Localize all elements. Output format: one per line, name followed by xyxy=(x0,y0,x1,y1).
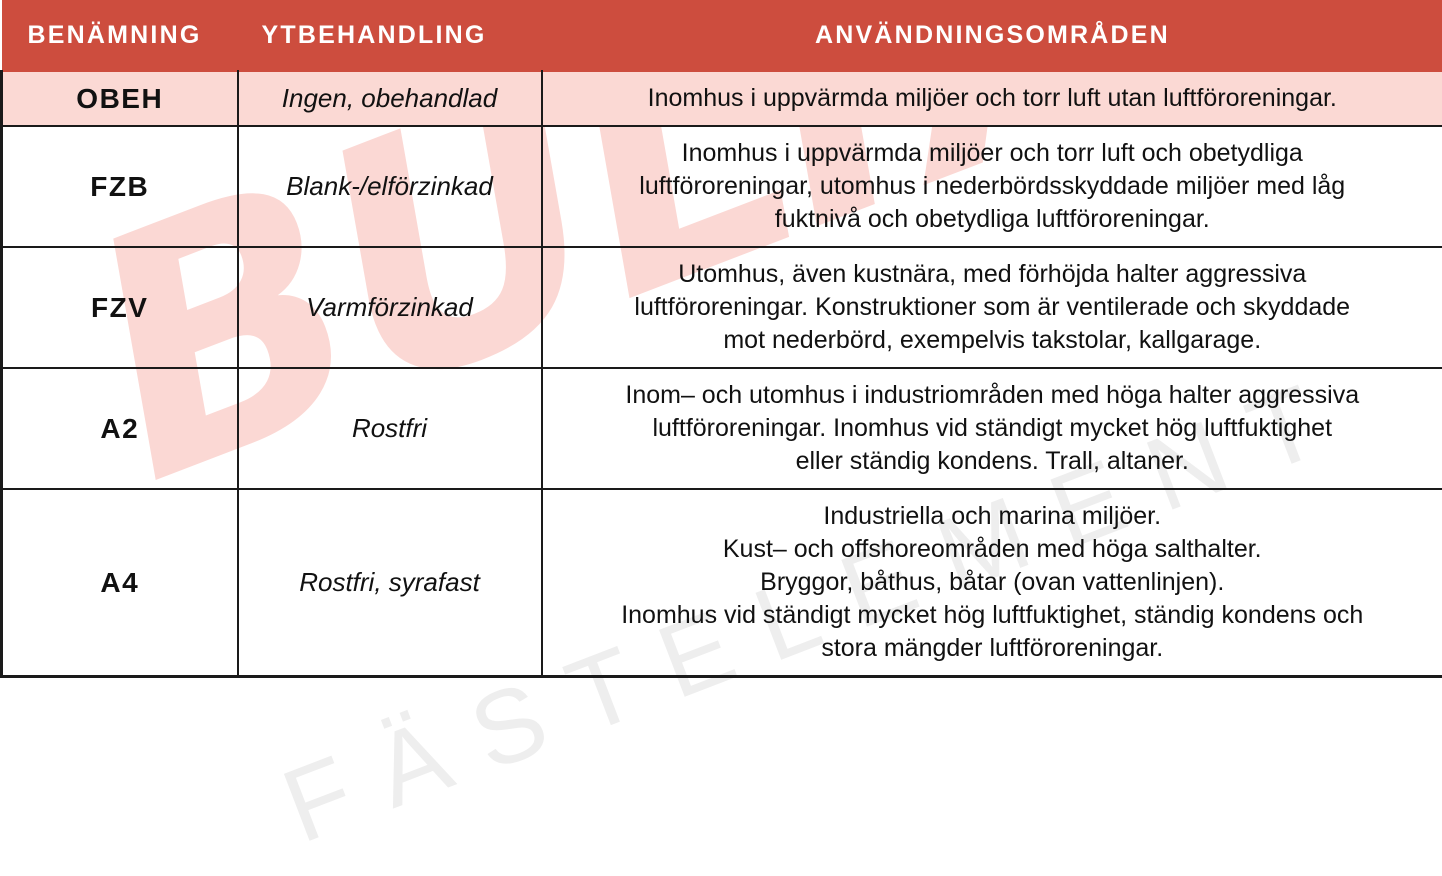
description-line: luftföroreningar. Konstruktioner som är … xyxy=(561,291,1425,324)
surface-treatment-table: BENÄMNING YTBEHANDLING ANVÄNDNINGSOMRÅDE… xyxy=(0,0,1442,678)
cell-benamning: FZB xyxy=(2,126,238,247)
column-header-anvandningsomraden: ANVÄNDNINGSOMRÅDEN xyxy=(542,0,1442,71)
cell-anvandningsomraden: Inomhus i uppvärmda miljöer och torr luf… xyxy=(542,126,1442,247)
description-line: Inomhus i uppvärmda miljöer och torr luf… xyxy=(561,82,1425,115)
cell-anvandningsomraden: Inom– och utomhus i industriområden med … xyxy=(542,368,1442,489)
description-line: eller ständig kondens. Trall, altaner. xyxy=(561,445,1425,478)
table-row: FZVVarmförzinkadUtomhus, även kustnära, … xyxy=(2,247,1442,368)
cell-benamning: A4 xyxy=(2,489,238,677)
description-line: Bryggor, båthus, båtar (ovan vattenlinje… xyxy=(561,566,1425,599)
cell-benamning: OBEH xyxy=(2,71,238,126)
table-header: BENÄMNING YTBEHANDLING ANVÄNDNINGSOMRÅDE… xyxy=(2,0,1442,71)
column-header-ytbehandling: YTBEHANDLING xyxy=(238,0,542,71)
cell-ytbehandling: Ingen, obehandlad xyxy=(238,71,542,126)
cell-anvandningsomraden: Industriella och marina miljöer.Kust– oc… xyxy=(542,489,1442,677)
description-line: Kust– och offshoreområden med höga salth… xyxy=(561,533,1425,566)
cell-ytbehandling: Blank-/elförzinkad xyxy=(238,126,542,247)
table-body: OBEHIngen, obehandladInomhus i uppvärmda… xyxy=(2,71,1442,677)
description-line: luftföroreningar, utomhus i nederbördssk… xyxy=(561,170,1425,203)
table-row: OBEHIngen, obehandladInomhus i uppvärmda… xyxy=(2,71,1442,126)
description-line: stora mängder luftföroreningar. xyxy=(561,632,1425,665)
column-header-benamning: BENÄMNING xyxy=(2,0,238,71)
cell-anvandningsomraden: Inomhus i uppvärmda miljöer och torr luf… xyxy=(542,71,1442,126)
description-line: Inom– och utomhus i industriområden med … xyxy=(561,379,1425,412)
description-line: Inomhus i uppvärmda miljöer och torr luf… xyxy=(561,137,1425,170)
surface-treatment-table-wrapper: BENÄMNING YTBEHANDLING ANVÄNDNINGSOMRÅDE… xyxy=(0,0,1442,876)
description-line: Inomhus vid ständigt mycket hög luftfukt… xyxy=(561,599,1425,632)
description-line: Industriella och marina miljöer. xyxy=(561,500,1425,533)
cell-anvandningsomraden: Utomhus, även kustnära, med förhöjda hal… xyxy=(542,247,1442,368)
cell-benamning: A2 xyxy=(2,368,238,489)
description-line: Utomhus, även kustnära, med förhöjda hal… xyxy=(561,258,1425,291)
description-line: mot nederbörd, exempelvis takstolar, kal… xyxy=(561,324,1425,357)
description-line: fuktnivå och obetydliga luftföroreningar… xyxy=(561,203,1425,236)
table-row: A4Rostfri, syrafastIndustriella och mari… xyxy=(2,489,1442,677)
cell-ytbehandling: Rostfri xyxy=(238,368,542,489)
description-line: luftföroreningar. Inomhus vid ständigt m… xyxy=(561,412,1425,445)
table-row: FZBBlank-/elförzinkadInomhus i uppvärmda… xyxy=(2,126,1442,247)
spec-sheet: BULTAB FÄSTELEMENT BENÄMNING YTBEHANDLIN… xyxy=(0,0,1442,876)
cell-ytbehandling: Rostfri, syrafast xyxy=(238,489,542,677)
cell-ytbehandling: Varmförzinkad xyxy=(238,247,542,368)
table-header-row: BENÄMNING YTBEHANDLING ANVÄNDNINGSOMRÅDE… xyxy=(2,0,1442,71)
cell-benamning: FZV xyxy=(2,247,238,368)
table-row: A2RostfriInom– och utomhus i industriomr… xyxy=(2,368,1442,489)
